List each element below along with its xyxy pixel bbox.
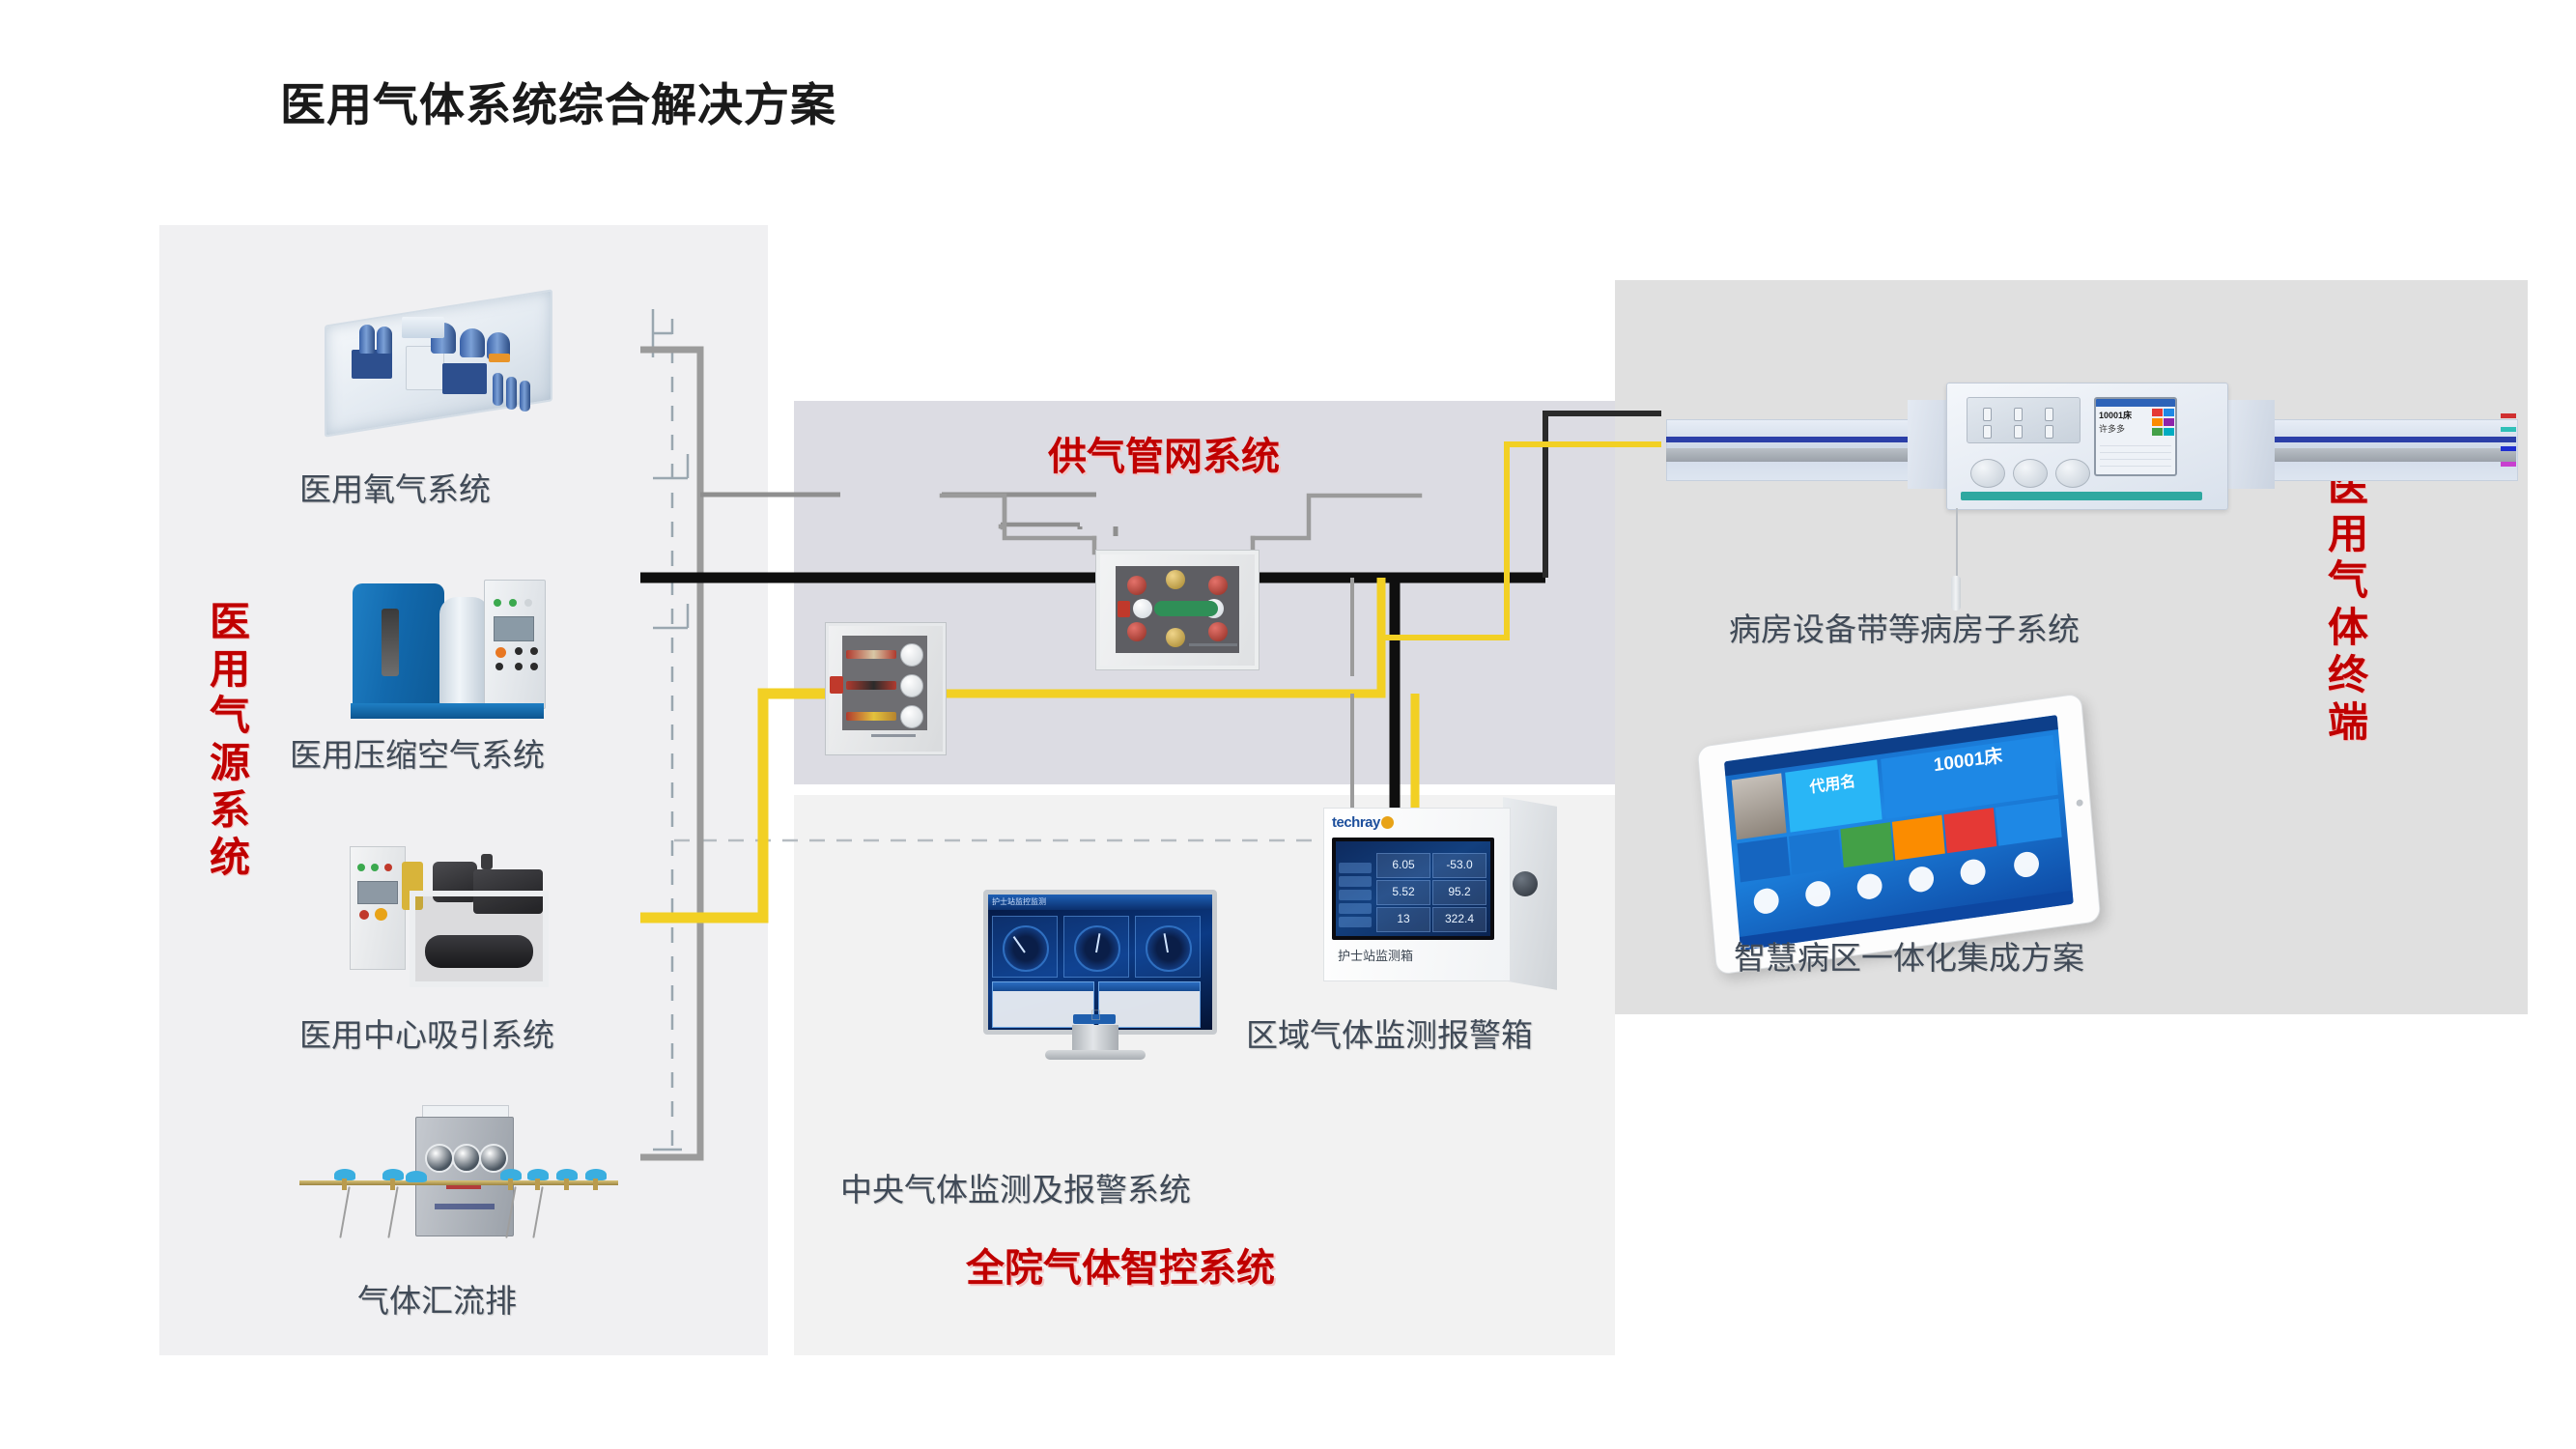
gas-manifold-icon: [299, 1101, 618, 1246]
caption-vacuum-system: 医用中心吸引系统: [299, 1009, 554, 1056]
section-label-gas-source: 医用气源系统: [201, 599, 259, 881]
imac-monitor-icon: 护士站监控监测 : [977, 884, 1214, 1077]
techray-brand-alarmbox: techray: [1332, 814, 1394, 831]
zone-valve-box-icon: [1096, 551, 1259, 669]
tablet-patient-name: 代用名: [1785, 759, 1882, 832]
caption-central-monitoring: 中央气体监测及报警系统: [840, 1164, 1191, 1210]
lock-icon[interactable]: [1513, 871, 1538, 896]
bedpanel-patient-name: 许多多: [2099, 422, 2125, 435]
alarm-reading-4: 95.2: [1432, 880, 1486, 905]
workstation-title: 护士站监控监测: [992, 896, 1046, 907]
tablet-icon: 代用名 10001床: [1705, 720, 2130, 961]
alarm-reading-2: -53.0: [1432, 853, 1486, 878]
alarm-box-icon: techray 6.05 -53.0 5.52 95.2 13 322.4 护士…: [1323, 802, 1565, 990]
alarm-reading-6: 322.4: [1432, 907, 1486, 932]
apple-logo-icon: : [1090, 1008, 1101, 1024]
caption-bed-panel: 病房设备带等病房子系统: [1729, 604, 2080, 650]
section-label-pipe-network: 供气管网系统: [1048, 425, 1280, 481]
alarm-reading-1: 6.05: [1376, 853, 1430, 878]
bed-head-panel-icon: 10001床 许多多: [1666, 377, 2516, 522]
oxygen-container-icon: [317, 290, 558, 430]
caption-air-system: 医用压缩空气系统: [290, 729, 545, 776]
alarm-reading-3: 5.52: [1376, 880, 1430, 905]
caption-manifold: 气体汇流排: [357, 1275, 517, 1321]
page-title: 医用气体系统综合解决方案: [280, 68, 836, 134]
alarm-box-device-caption: 护士站监测箱: [1338, 946, 1413, 964]
caption-smart-ward: 智慧病区一体化集成方案: [1734, 932, 2084, 979]
bedpanel-bed-number: 10001床: [2099, 409, 2132, 421]
caption-oxygen-system: 医用氧气系统: [299, 464, 491, 510]
air-compressor-icon: [343, 570, 551, 724]
caption-zone-alarm-box: 区域气体监测报警箱: [1246, 1009, 1533, 1056]
section-label-control: 全院气体智控系统: [966, 1236, 1275, 1293]
alarm-reading-5: 13: [1376, 907, 1430, 932]
vacuum-pump-icon: [338, 840, 555, 995]
valve-box-icon: [826, 623, 946, 754]
